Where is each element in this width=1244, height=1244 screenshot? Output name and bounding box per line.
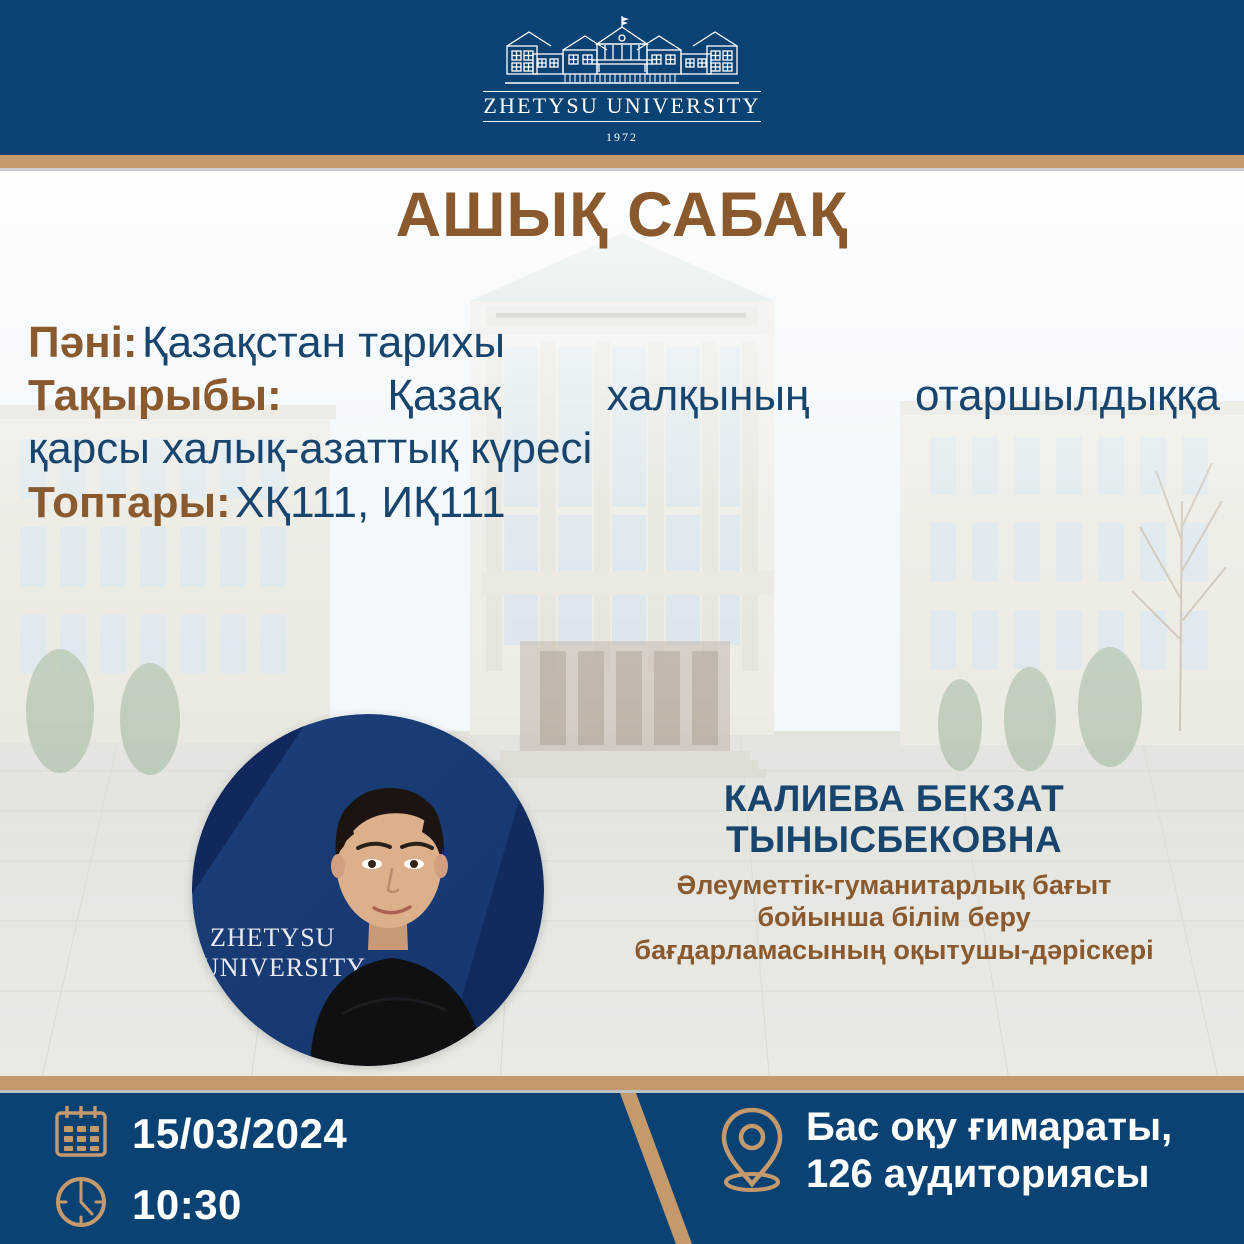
event-location-line2: 126 аудиториясы (806, 1152, 1150, 1196)
calendar-icon (52, 1102, 110, 1165)
subject-line: Пәні: Қазақстан тарихы (28, 318, 1220, 368)
event-location: Бас оқу ғимараты, 126 аудиториясы (806, 1104, 1172, 1197)
university-logo: ZHETYSU UNIVERSITY 1972 (483, 14, 760, 145)
event-date: 15/03/2024 (132, 1110, 347, 1158)
footer-location-group: Бас оқу ғимараты, 126 аудиториясы (716, 1102, 1236, 1199)
subject-value: Қазақстан тарихы (142, 318, 505, 367)
university-name: ZHETYSU UNIVERSITY (483, 91, 760, 122)
speaker-role-line2: бойынша білім беру (568, 901, 1220, 933)
university-founded-year: 1972 (606, 130, 638, 145)
topic-label: Тақырыбы: (28, 371, 282, 420)
speaker-info: КАЛИЕВА БЕКЗАТ ТЫНЫСБЕКОВНА Әлеуметтік-г… (568, 778, 1220, 966)
svg-text:ZHETYSU: ZHETYSU (210, 923, 335, 952)
page-title: АШЫҚ САБАҚ (0, 184, 1244, 247)
groups-line: Топтары: ХҚ111, ИҚ111 (28, 478, 1220, 528)
event-announcement-poster: ZHETYSU UNIVERSITY 1972 (0, 0, 1244, 1244)
groups-value: ХҚ111, ИҚ111 (235, 478, 505, 527)
event-time: 10:30 (132, 1181, 242, 1229)
clock-icon (52, 1173, 110, 1236)
svg-text:UNIVERSITY: UNIVERSITY (200, 953, 366, 982)
footer-datetime-group: 15/03/2024 10:30 (52, 1098, 612, 1240)
header-accent-stripe (0, 155, 1244, 168)
map-pin-icon (716, 1102, 788, 1199)
poster-header: ZHETYSU UNIVERSITY 1972 (0, 0, 1244, 155)
topic-value-line1: Қазақ халқының отаршылдыққа (387, 371, 1220, 420)
footer-date-row: 15/03/2024 (52, 1098, 612, 1169)
university-building-logo-icon (491, 14, 753, 86)
event-location-line1: Бас оқу ғимараты, (806, 1105, 1172, 1149)
speaker-role-line1: Әлеуметтік-гуманитарлық бағыт (568, 869, 1220, 901)
topic-value-line2: қарсы халық-азаттық күресі (28, 423, 1220, 476)
subject-label: Пәні: (28, 318, 138, 367)
groups-label: Топтары: (28, 478, 231, 527)
footer-time-row: 10:30 (52, 1169, 612, 1240)
speaker-role-line3: бағдарламасының оқытушы-дәріскері (568, 934, 1220, 966)
speaker-portrait-photo: ZHETYSU UNIVERSITY (192, 714, 544, 1066)
lesson-details: Пәні: Қазақстан тарихы Тақырыбы: Қазақ х… (28, 318, 1220, 530)
speaker-name-line2: ТЫНЫСБЕКОВНА (568, 819, 1220, 860)
speaker-name-line1: КАЛИЕВА БЕКЗАТ (568, 778, 1220, 819)
footer-accent-stripe (0, 1076, 1244, 1090)
topic-line: Тақырыбы: Қазақ халқының отаршылдыққа (28, 370, 1220, 423)
